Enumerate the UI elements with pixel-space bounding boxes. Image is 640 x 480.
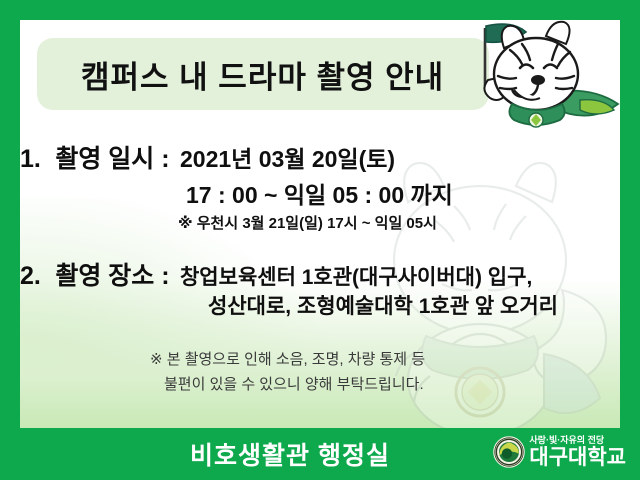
page-title: 캠퍼스 내 드라마 촬영 안내 [81, 52, 444, 97]
content-panel: 캠퍼스 내 드라마 촬영 안내 [20, 20, 620, 428]
poster-content: 캠퍼스 내 드라마 촬영 안내 [20, 20, 620, 428]
poster-root: 캠퍼스 내 드라마 촬영 안내 [0, 0, 640, 480]
university-logo: 사랑·빛·자유의 전당 대구대학교 [493, 436, 626, 468]
footer-bar: 비호생활관 행정실 사랑·빛·자유의 전당 대구대학교 [0, 428, 640, 480]
footer-office-name: 비호생활관 행정실 [190, 436, 390, 472]
item-2-value-line1: 창업보육센터 1호관(대구사이버대) 입구, [180, 266, 532, 289]
notice-line-1: ※ 본 촬영으로 인해 소음, 조명, 차량 통제 등 [150, 348, 425, 369]
daegu-university-emblem-icon [493, 436, 525, 468]
item-1-number: 1. [20, 145, 41, 173]
item-2-label: 촬영 장소 : [55, 262, 169, 290]
item-1-value-line2: 17 : 00 ~ 익일 05 : 00 까지 [186, 176, 453, 210]
item-1-line: 1. 촬영 일시 : 2021년 03월 20일(토) [20, 139, 395, 175]
item-1-label: 촬영 일시 : [55, 145, 169, 173]
item-1-sub-note: ※ 우천시 3월 21일(일) 17시 ~ 익일 05시 [178, 212, 437, 233]
item-1-value-line1: 2021년 03월 20일(토) [180, 146, 395, 172]
tiger-mascot-with-flag-icon [440, 20, 620, 134]
item-2-line: 2. 촬영 장소 : 창업보육센터 1호관(대구사이버대) 입구, [20, 256, 532, 292]
item-2-number: 2. [20, 262, 41, 290]
logo-tagline: 사랑·빛·자유의 전당 [529, 436, 626, 445]
logo-university-name: 대구대학교 [529, 447, 626, 468]
notice-line-2: 불편이 있을 수 있으니 양해 부탁드립니다. [164, 373, 424, 394]
item-2-value-line2: 성산대로, 조형예술대학 1호관 앞 오거리 [208, 290, 558, 320]
title-box: 캠퍼스 내 드라마 촬영 안내 [37, 38, 489, 110]
